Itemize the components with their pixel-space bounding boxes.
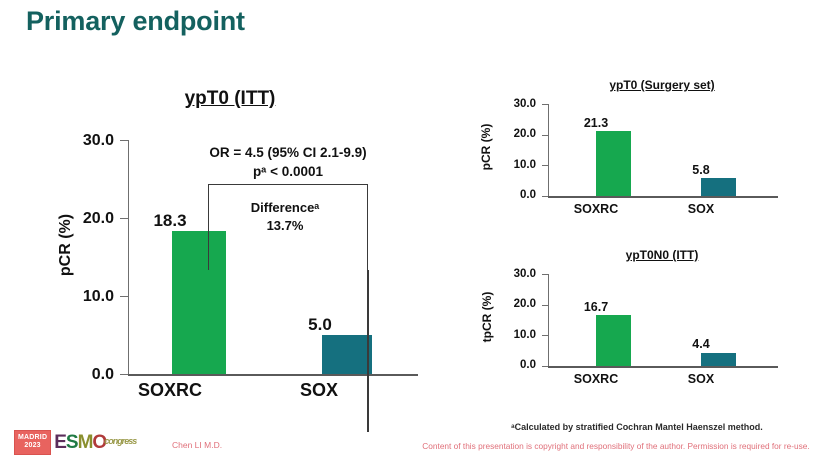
difference-label: Differenceᵃ [220, 200, 350, 215]
surgery-xtick-soxrc: SOXRC [566, 202, 626, 216]
main-chart-title: ypT0 (ITT) [80, 88, 380, 110]
ypt0n0-chart-title: ypT0N0 (ITT) [512, 248, 812, 262]
esmo-congress-word: congress [104, 432, 136, 451]
esmo-congress-logo: MADRID 2023 ESMO congress [14, 429, 136, 455]
surgery-value-soxrc: 21.3 [566, 116, 626, 130]
chart-ypt0n0-itt: ypT0N0 (ITT) tpCR (%) 30.0 20.0 10.0 0.0… [452, 248, 822, 413]
main-chart-ypt0-itt: ypT0 (ITT) pCR (%) 30.0 20.0 10.0 0.0 18… [20, 88, 440, 418]
main-chart-xtick-soxrc: SOXRC [130, 380, 210, 401]
copyright-notice: Content of this presentation is copyrigh… [400, 441, 832, 451]
surgery-chart-title: ypT0 (Surgery set) [512, 78, 812, 92]
surgery-value-sox: 5.8 [671, 163, 731, 177]
difference-bracket-tail [367, 270, 369, 432]
surgery-ytick-0: 0.0 [494, 189, 536, 201]
ypt0n0-value-sox: 4.4 [671, 337, 731, 351]
ypt0n0-plot-area [548, 274, 808, 366]
main-chart-x-axis-line [128, 374, 418, 376]
ypt0n0-value-soxrc: 16.7 [566, 300, 626, 314]
presenter-name: Chen LI M.D. [172, 440, 222, 450]
surgery-ytick-10: 10.0 [494, 159, 536, 171]
main-chart-ytick-30: 30.0 [56, 132, 114, 150]
esmo-letter-e: E [54, 433, 66, 452]
main-chart-ytick-0: 0.0 [56, 366, 114, 384]
surgery-chart-y-axis-label: pCR (%) [479, 112, 493, 182]
ypt0n0-xtick-sox: SOX [671, 372, 731, 386]
ypt0n0-ytick-20: 20.0 [494, 298, 536, 310]
surgery-bar-soxrc [596, 131, 631, 196]
main-chart-p-annotation: pᵃ < 0.0001 [138, 164, 438, 179]
main-chart-bar-sox [322, 335, 372, 374]
surgery-x-axis-line [548, 196, 778, 198]
main-chart-xtick-sox: SOX [279, 380, 359, 401]
main-chart-value-soxrc: 18.3 [130, 211, 210, 231]
page-title: Primary endpoint [26, 6, 245, 37]
esmo-letter-s: S [66, 433, 78, 452]
madrid-badge-year: 2023 [18, 442, 47, 451]
ypt0n0-xtick-soxrc: SOXRC [566, 372, 626, 386]
main-chart-ytick-20: 20.0 [56, 210, 114, 228]
madrid-2023-badge: MADRID 2023 [14, 430, 51, 455]
main-chart-ytick-10: 10.0 [56, 288, 114, 306]
difference-value: 13.7% [220, 218, 350, 233]
ypt0n0-bar-soxrc [596, 315, 631, 366]
esmo-letter-m: M [78, 433, 93, 452]
surgery-bar-sox [701, 178, 736, 196]
statistical-footnote: ᵃCalculated by stratified Cochran Mantel… [452, 422, 822, 432]
surgery-ytick-20: 20.0 [494, 128, 536, 140]
ypt0n0-x-axis-line [548, 366, 778, 368]
main-chart-value-sox: 5.0 [280, 315, 360, 335]
ypt0n0-ytick-0: 0.0 [494, 359, 536, 371]
surgery-ytick-30: 30.0 [494, 98, 536, 110]
esmo-wordmark: ESMO congress [54, 433, 136, 452]
ypt0n0-chart-y-axis-label: tpCR (%) [480, 279, 494, 355]
madrid-badge-city: MADRID [18, 434, 47, 443]
chart-ypt0-surgery-set: ypT0 (Surgery set) pCR (%) 30.0 20.0 10.… [452, 78, 822, 238]
ypt0n0-bar-sox [701, 353, 736, 367]
main-chart-or-annotation: OR = 4.5 (95% CI 2.1-9.9) [138, 145, 438, 160]
surgery-xtick-sox: SOX [671, 202, 731, 216]
ypt0n0-ytick-10: 10.0 [494, 329, 536, 341]
ypt0n0-ytick-30: 30.0 [494, 268, 536, 280]
